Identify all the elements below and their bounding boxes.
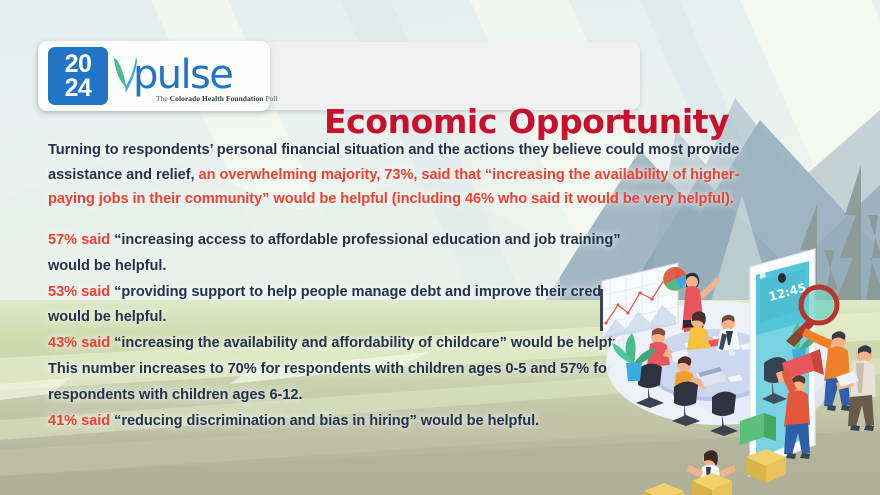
list-item: 57% said “increasing access to affordabl… bbox=[48, 228, 648, 280]
pulse-wordmark: pulse bbox=[133, 57, 232, 94]
stat-percent: 41% said bbox=[48, 413, 114, 429]
statistics-list: 57% said “increasing access to affordabl… bbox=[48, 228, 648, 434]
list-item: 43% said “increasing the availability an… bbox=[48, 331, 648, 408]
stat-percent: 43% said bbox=[48, 335, 114, 351]
stat-text: “increasing access to affordable profess… bbox=[48, 232, 621, 274]
year-top: 20 bbox=[65, 52, 92, 76]
intro-paragraph: Turning to respondents’ personal financi… bbox=[48, 138, 760, 212]
list-item: 41% said “reducing discrimination and bi… bbox=[48, 409, 648, 435]
list-item: 53% said “providing support to help peop… bbox=[48, 280, 648, 332]
stat-text: “providing support to help people manage… bbox=[48, 284, 617, 326]
page-title: Economic Opportunity bbox=[324, 102, 729, 141]
infographic-slide: Economic Opportunity 20 24 pulse The Col… bbox=[0, 0, 880, 495]
stat-text: “increasing the availability and afforda… bbox=[48, 335, 629, 403]
logo-tagline: The Colorado Health Foundation Poll bbox=[156, 94, 278, 103]
leaf-checkmark-icon bbox=[112, 54, 138, 94]
year-badge-2024: 20 24 bbox=[48, 47, 108, 105]
stat-text: “reducing discrimination and bias in hir… bbox=[114, 413, 539, 429]
pie-chart bbox=[663, 267, 687, 291]
isometric-business-meeting-illustration: 12:45 bbox=[600, 245, 880, 495]
year-bottom: 24 bbox=[65, 76, 92, 100]
stat-percent: 53% said bbox=[48, 284, 114, 300]
pulse-logo-card: 20 24 pulse The Colorado Health Foundati… bbox=[38, 41, 270, 111]
stat-percent: 57% said bbox=[48, 232, 114, 248]
